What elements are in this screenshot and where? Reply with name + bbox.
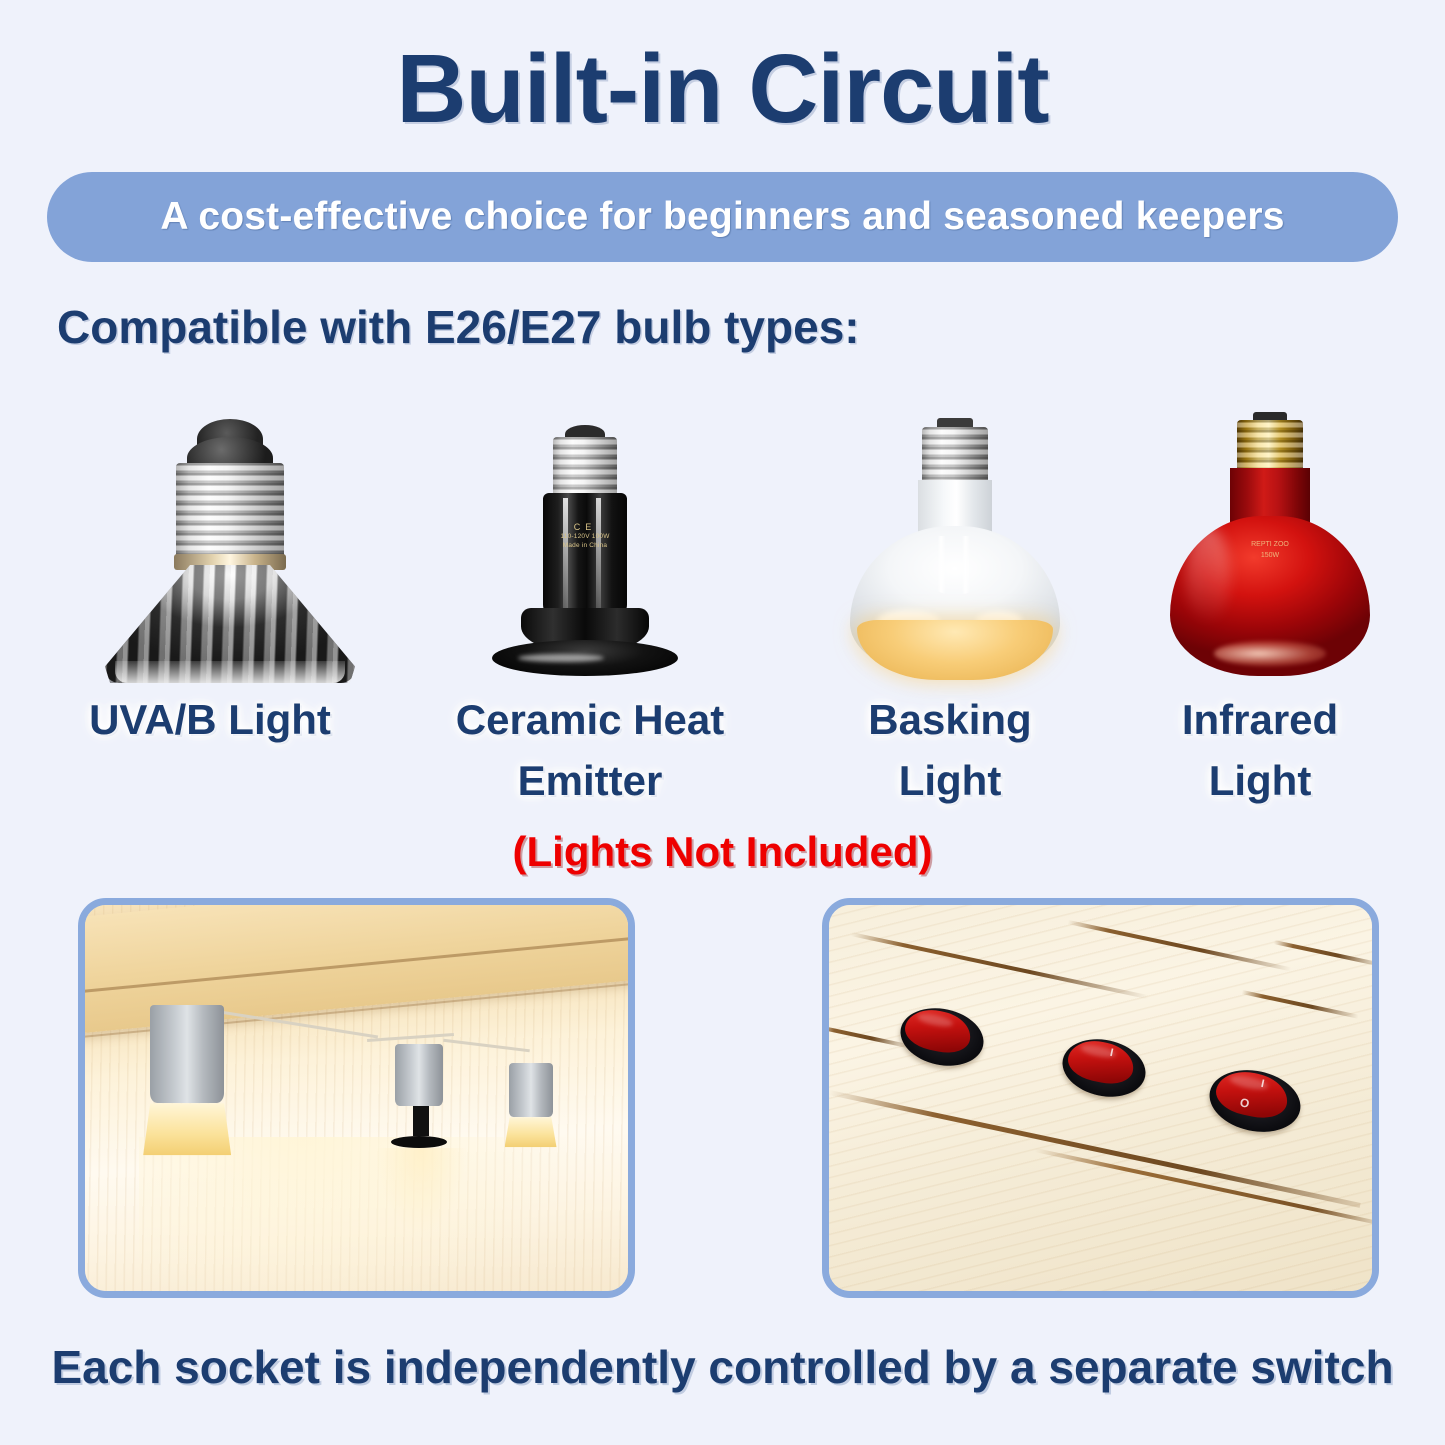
subtitle-banner: A cost-effective choice for beginners an…: [47, 172, 1398, 262]
bulb-label-basking-light: Basking Light: [800, 690, 1100, 812]
footer-caption: Each socket is independently controlled …: [0, 1340, 1445, 1394]
infrared-light-bulb-icon: REPTI ZOO 150W: [1170, 412, 1370, 680]
bulb-item-ceramic-heat-emitter: CE 110-120V 100W Made in China: [430, 390, 740, 680]
bulb-label-ceramic-heat-emitter: Ceramic Heat Emitter: [410, 690, 770, 812]
bulb-label-line2: Emitter: [410, 751, 770, 812]
bulb-label-line1: Ceramic Heat: [410, 690, 770, 751]
bulb-label-line1: Basking: [800, 690, 1100, 751]
ce-mark-text: CE: [546, 521, 624, 533]
bulb-item-basking-light: [800, 390, 1110, 680]
basking-light-bulb-icon: [850, 418, 1060, 680]
bulb-label-line2: Light: [800, 751, 1100, 812]
rocker-switch[interactable]: I: [1062, 1040, 1146, 1096]
subtitle-text: A cost-effective choice for beginners an…: [160, 195, 1284, 239]
page-title: Built-in Circuit: [0, 38, 1445, 140]
infrared-rating-text: 150W: [1261, 552, 1279, 559]
infrared-brand-text: REPTI ZOO: [1251, 541, 1289, 548]
lamp-socket: [150, 1005, 231, 1155]
bulb-label-uva-b: UVA/B Light: [30, 690, 390, 751]
infrared-bulb-markings: REPTI ZOO 150W: [1215, 540, 1325, 561]
ceramic-heat-emitter-icon: CE 110-120V 100W Made in China: [485, 425, 685, 680]
bulb-gallery: CE 110-120V 100W Made in China REPTI ZOO: [0, 390, 1445, 680]
bulb-label-line1: Infrared: [1110, 690, 1410, 751]
lamp-sockets-inside-enclosure-photo: [78, 898, 635, 1298]
bulb-item-uva-b: [60, 390, 400, 680]
rocker-switch[interactable]: I O: [1209, 1071, 1301, 1131]
ceramic-rating-text: 110-120V 100W: [560, 533, 609, 540]
rocker-switches-on-wood-panel-photo: I I O: [822, 898, 1379, 1298]
lights-not-included-notice: (Lights Not Included): [0, 828, 1445, 876]
lamp-socket: [509, 1063, 557, 1147]
uva-b-halogen-bulb-icon: [105, 415, 355, 680]
bulb-label-line2: Light: [1110, 751, 1410, 812]
compatibility-heading: Compatible with E26/E27 bulb types:: [57, 300, 860, 354]
ceramic-emitter-markings: CE 110-120V 100W Made in China: [546, 521, 624, 551]
ceramic-origin-text: Made in China: [563, 542, 608, 549]
rocker-switch[interactable]: [900, 1009, 984, 1065]
bulb-label-infrared-light: Infrared Light: [1110, 690, 1410, 812]
bulb-label-line1: UVA/B Light: [30, 690, 390, 751]
bulb-label-row: UVA/B Light Ceramic Heat Emitter Basking…: [0, 690, 1445, 805]
bulb-item-infrared-light: REPTI ZOO 150W: [1120, 390, 1420, 680]
lamp-socket: [395, 1044, 447, 1148]
